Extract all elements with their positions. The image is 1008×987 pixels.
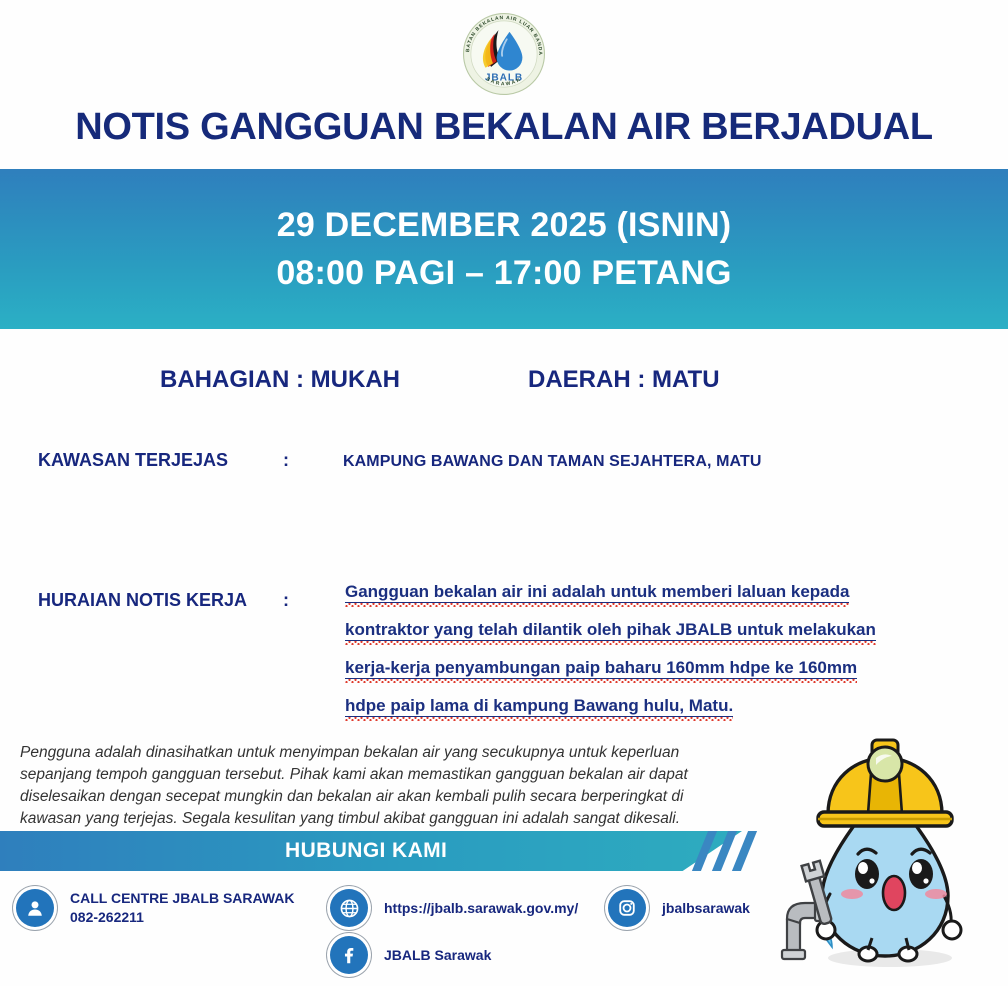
contact-call-centre[interactable]: CALL CENTRE JBALB SARAWAK 082-262211: [16, 889, 295, 927]
district-text: DAERAH : MATU: [528, 366, 720, 394]
facebook-icon: [330, 936, 368, 974]
date-banner: 29 DECEMBER 2025 (ISNIN) 08:00 PAGI – 17…: [0, 169, 1008, 329]
work-notice-line: Gangguan bekalan air ini adalah untuk me…: [345, 583, 849, 603]
person-icon: [16, 889, 54, 927]
work-notice-line: kerja-kerja penyambungan paip baharu 160…: [345, 659, 857, 679]
globe-icon: [330, 889, 368, 927]
notice-time: 08:00 PAGI – 17:00 PETANG: [276, 249, 731, 297]
notice-date: 29 DECEMBER 2025 (ISNIN): [277, 201, 732, 249]
contact-website-text: https://jbalb.sarawak.gov.my/: [384, 899, 578, 918]
contact-instagram[interactable]: jbalbsarawak: [608, 889, 750, 927]
contact-website-label: https://jbalb.sarawak.gov.my/: [384, 900, 578, 916]
advisory-paragraph: Pengguna adalah dinasihatkan untuk menyi…: [20, 742, 732, 830]
division-text: BAHAGIAN : MUKAH: [160, 366, 400, 394]
contact-facebook-label: JBALB Sarawak: [384, 947, 491, 963]
page-title: NOTIS GANGGUAN BEKALAN AIR BERJADUAL: [0, 106, 1008, 149]
contact-banner-title: HUBUNGI KAMI: [285, 839, 447, 863]
work-notice-line: hdpe paip lama di kampung Bawang hulu, M…: [345, 697, 733, 717]
affected-area-label: KAWASAN TERJEJAS: [38, 450, 228, 471]
contact-call-text: CALL CENTRE JBALB SARAWAK 082-262211: [70, 889, 295, 927]
slash-icon: [732, 831, 757, 871]
instagram-icon: [608, 889, 646, 927]
contact-banner: HUBUNGI KAMI: [0, 831, 742, 871]
work-notice-body: Gangguan bekalan air ini adalah untuk me…: [345, 583, 905, 735]
hard-hat-icon: [818, 740, 952, 826]
work-notice-colon: :: [283, 590, 289, 611]
affected-area-colon: :: [283, 450, 289, 471]
work-notice-label: HURAIAN NOTIS KERJA: [38, 590, 247, 611]
contact-call-label: CALL CENTRE JBALB SARAWAK: [70, 890, 295, 906]
region-row: BAHAGIAN : MUKAH DAERAH : MATU: [0, 366, 1008, 398]
contact-website[interactable]: https://jbalb.sarawak.gov.my/: [330, 889, 578, 927]
contact-instagram-text: jbalbsarawak: [662, 899, 750, 918]
contact-instagram-label: jbalbsarawak: [662, 900, 750, 916]
contact-facebook-text: JBALB Sarawak: [384, 946, 491, 965]
water-droplet-worker-mascot: [760, 726, 1008, 982]
logo-container: JBALB JABATAN BEKALAN AIR LUAR BANDAR SA…: [0, 8, 1008, 100]
jbalb-logo: JBALB JABATAN BEKALAN AIR LUAR BANDAR SA…: [458, 8, 550, 100]
contact-facebook[interactable]: JBALB Sarawak: [330, 936, 491, 974]
work-notice-line: kontraktor yang telah dilantik oleh piha…: [345, 621, 876, 641]
notice-page: JBALB JABATAN BEKALAN AIR LUAR BANDAR SA…: [0, 0, 1008, 986]
contact-call-number: 082-262211: [70, 908, 295, 927]
affected-area-value: KAMPUNG BAWANG DAN TAMAN SEJAHTERA, MATU: [343, 453, 762, 471]
